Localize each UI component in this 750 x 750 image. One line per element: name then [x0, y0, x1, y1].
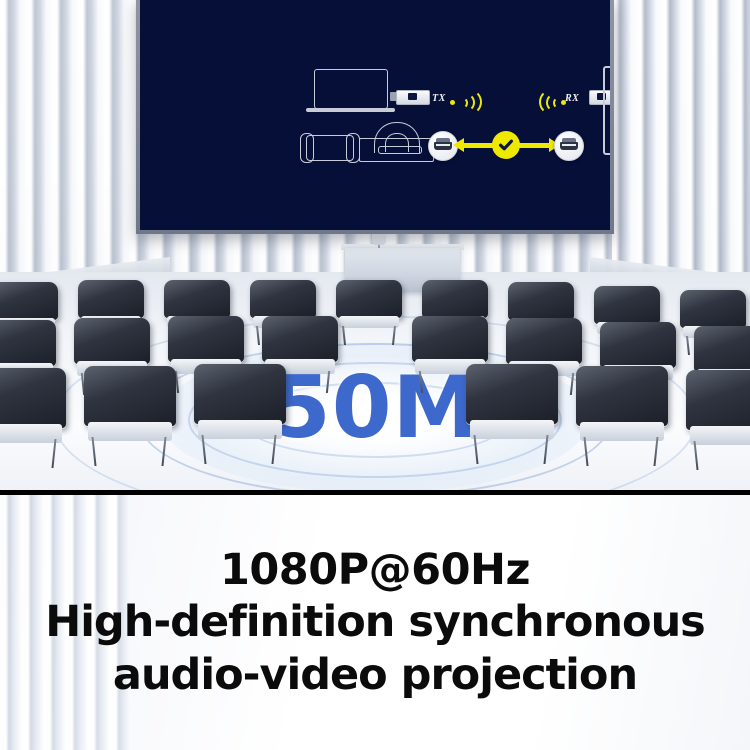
- projection-screen: TX RX: [140, 0, 610, 230]
- stage-curtain-right: [612, 0, 750, 300]
- chair: [466, 364, 558, 460]
- tx-chip: [408, 93, 417, 100]
- conference-hall-photo: 50M: [0, 0, 750, 494]
- caption-line-2: High-definition synchronous: [45, 596, 705, 648]
- rx-label: RX: [565, 93, 579, 104]
- laptop-icon: [314, 69, 388, 109]
- chair: [336, 280, 402, 342]
- disc-tray: [378, 146, 422, 154]
- chair: [576, 366, 668, 462]
- television-icon: [603, 66, 610, 155]
- chair: [84, 366, 176, 462]
- laptop-base: [306, 108, 395, 112]
- caption-line-3: audio-video projection: [113, 649, 637, 701]
- caption-text-block: 1080P@60Hz High-definition synchronous a…: [0, 495, 750, 750]
- caption-panel: 1080P@60Hz High-definition synchronous a…: [0, 495, 750, 750]
- chair: [0, 368, 66, 464]
- tx-label: TX: [432, 93, 446, 104]
- product-feature-image: 50M: [0, 0, 750, 750]
- chair: [686, 370, 750, 466]
- game-console-left-grip: [300, 133, 314, 163]
- caption-line-1: 1080P@60Hz: [220, 544, 530, 596]
- chair-rows: [0, 272, 750, 494]
- game-console-right-grip: [346, 133, 360, 163]
- chair: [194, 364, 286, 460]
- wifi-origin-dot-tx: [450, 100, 455, 105]
- wifi-waves-right-icon: [453, 88, 479, 114]
- hdmi-port-icon-right: [554, 131, 584, 161]
- check-badge-icon: [492, 131, 520, 159]
